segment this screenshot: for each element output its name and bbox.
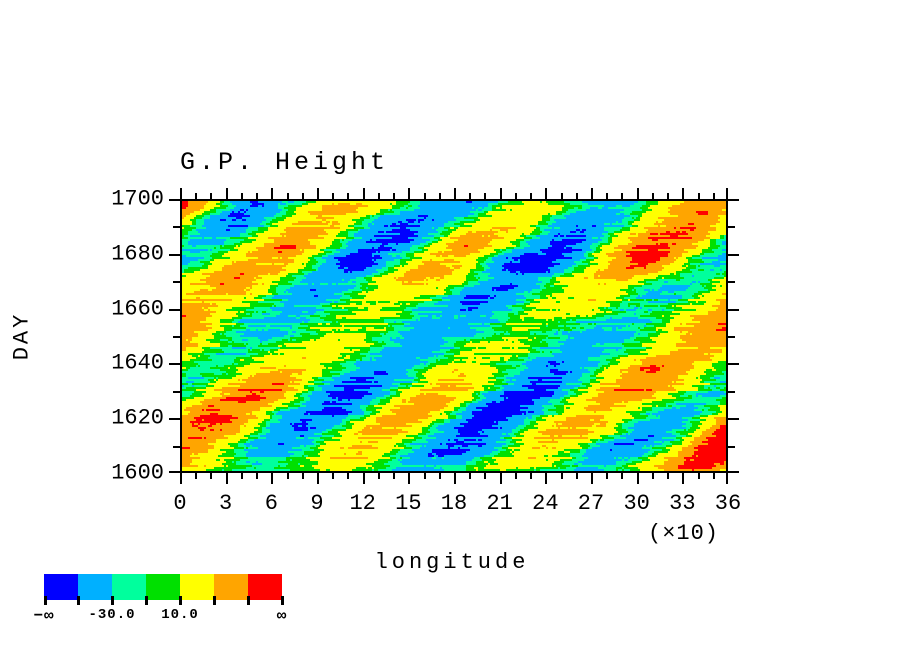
x-tick-label: 12: [349, 491, 375, 516]
y-major-tick-right: [727, 363, 739, 365]
x-minor-tick: [302, 472, 304, 479]
x-minor-tick-top: [393, 193, 395, 200]
colorbar-ticks: [44, 596, 282, 605]
y-minor-tick-right: [727, 336, 735, 338]
x-minor-tick-top: [667, 193, 669, 200]
x-minor-tick-top: [561, 193, 563, 200]
x-minor-tick-top: [652, 193, 654, 200]
x-minor-tick: [469, 472, 471, 479]
x-minor-tick: [439, 472, 441, 479]
x-major-tick: [363, 472, 365, 484]
x-tick-label: 30: [623, 491, 649, 516]
y-major-tick: [169, 363, 181, 365]
y-axis-label: DAY: [10, 312, 35, 361]
x-major-tick: [545, 472, 547, 484]
y-minor-tick-right: [727, 446, 735, 448]
x-tick-label: 6: [265, 491, 278, 516]
x-major-tick: [317, 472, 319, 484]
y-minor-tick: [173, 446, 181, 448]
colorbar-label: −∞: [33, 607, 54, 625]
x-minor-tick: [332, 472, 334, 479]
x-major-tick: [726, 472, 728, 484]
y-tick-label: 1700: [84, 187, 164, 212]
x-minor-tick: [667, 472, 669, 479]
heatmap-canvas: [180, 199, 728, 473]
x-minor-tick: [606, 472, 608, 479]
x-minor-tick: [484, 472, 486, 479]
y-major-tick: [169, 471, 181, 473]
x-major-tick-top: [545, 188, 547, 200]
y-tick-label: 1680: [84, 241, 164, 266]
x-major-tick-top: [591, 188, 593, 200]
colorbar-tick: [247, 596, 250, 605]
hovmoller-plot: [180, 199, 728, 473]
x-minor-tick: [347, 472, 349, 479]
y-major-tick: [169, 418, 181, 420]
x-minor-tick: [515, 472, 517, 479]
x-minor-tick: [393, 472, 395, 479]
x-minor-tick: [621, 472, 623, 479]
x-minor-tick-top: [606, 193, 608, 200]
y-major-tick-right: [727, 199, 739, 201]
y-major-tick-right: [727, 309, 739, 311]
colorbar-tick: [111, 596, 114, 605]
page-title: G.P. Height: [180, 148, 389, 177]
y-minor-tick: [173, 391, 181, 393]
x-major-tick-top: [363, 188, 365, 200]
x-minor-tick: [561, 472, 563, 479]
x-axis-multiplier-note: (×10): [648, 521, 719, 546]
x-minor-tick-top: [698, 193, 700, 200]
x-minor-tick-top: [256, 193, 258, 200]
x-major-tick-top: [271, 188, 273, 200]
x-minor-tick-top: [439, 193, 441, 200]
x-minor-tick: [195, 472, 197, 479]
x-minor-tick-top: [195, 193, 197, 200]
x-major-tick: [271, 472, 273, 484]
x-minor-tick: [698, 472, 700, 479]
x-minor-tick: [424, 472, 426, 479]
y-minor-tick: [173, 226, 181, 228]
y-major-tick: [169, 199, 181, 201]
x-minor-tick: [241, 472, 243, 479]
x-tick-label: 15: [395, 491, 421, 516]
x-major-tick-top: [317, 188, 319, 200]
colorbar-tick: [145, 596, 148, 605]
x-tick-label: 36: [715, 491, 741, 516]
x-major-tick: [408, 472, 410, 484]
x-minor-tick-top: [241, 193, 243, 200]
x-minor-tick-top: [469, 193, 471, 200]
colorbar-tick: [213, 596, 216, 605]
x-major-tick-top: [500, 188, 502, 200]
x-tick-label: 9: [310, 491, 323, 516]
x-minor-tick: [576, 472, 578, 479]
y-minor-tick-right: [727, 391, 735, 393]
y-major-tick-right: [727, 418, 739, 420]
x-major-tick: [591, 472, 593, 484]
x-tick-label: 33: [669, 491, 695, 516]
y-tick-label: 1600: [84, 461, 164, 486]
colorbar-tick: [77, 596, 80, 605]
x-major-tick-top: [408, 188, 410, 200]
colorbar-tick: [179, 596, 182, 605]
x-axis-label: longitude: [0, 550, 904, 575]
y-minor-tick: [173, 281, 181, 283]
x-tick-label: 27: [578, 491, 604, 516]
x-minor-tick-top: [302, 193, 304, 200]
x-major-tick: [637, 472, 639, 484]
x-minor-tick-top: [332, 193, 334, 200]
x-major-tick-top: [637, 188, 639, 200]
x-minor-tick-top: [287, 193, 289, 200]
x-minor-tick-top: [378, 193, 380, 200]
x-minor-tick-top: [576, 193, 578, 200]
x-minor-tick: [652, 472, 654, 479]
y-tick-label: 1620: [84, 406, 164, 431]
x-major-tick-top: [682, 188, 684, 200]
y-tick-label: 1640: [84, 351, 164, 376]
figure-root: G.P. Height 0369121518212427303336 17001…: [0, 0, 904, 654]
x-minor-tick-top: [621, 193, 623, 200]
colorbar-label: 10.0: [161, 607, 199, 623]
y-major-tick-right: [727, 471, 739, 473]
colorbar-tick: [44, 596, 47, 605]
x-minor-tick: [256, 472, 258, 479]
x-major-tick: [180, 472, 182, 484]
x-major-tick-top: [226, 188, 228, 200]
y-major-tick: [169, 309, 181, 311]
y-minor-tick-right: [727, 226, 735, 228]
x-tick-label: 3: [219, 491, 232, 516]
colorbar-tick: [281, 596, 284, 605]
x-minor-tick: [210, 472, 212, 479]
x-tick-label: 21: [486, 491, 512, 516]
y-major-tick: [169, 254, 181, 256]
y-major-tick-right: [727, 254, 739, 256]
x-minor-tick-top: [515, 193, 517, 200]
x-minor-tick-top: [530, 193, 532, 200]
x-major-tick: [682, 472, 684, 484]
x-minor-tick: [378, 472, 380, 479]
x-minor-tick-top: [713, 193, 715, 200]
x-major-tick: [500, 472, 502, 484]
x-tick-label: 18: [441, 491, 467, 516]
x-major-tick: [454, 472, 456, 484]
x-major-tick-top: [454, 188, 456, 200]
x-minor-tick-top: [424, 193, 426, 200]
x-tick-label: 0: [173, 491, 186, 516]
colorbar-label: -30.0: [88, 607, 135, 623]
y-minor-tick-right: [727, 281, 735, 283]
y-minor-tick: [173, 336, 181, 338]
x-minor-tick: [530, 472, 532, 479]
colorbar-label: ∞: [277, 607, 288, 625]
x-minor-tick: [713, 472, 715, 479]
x-minor-tick-top: [484, 193, 486, 200]
y-tick-label: 1660: [84, 296, 164, 321]
x-tick-label: 24: [532, 491, 558, 516]
x-major-tick: [226, 472, 228, 484]
x-minor-tick: [287, 472, 289, 479]
x-minor-tick-top: [210, 193, 212, 200]
x-minor-tick-top: [347, 193, 349, 200]
